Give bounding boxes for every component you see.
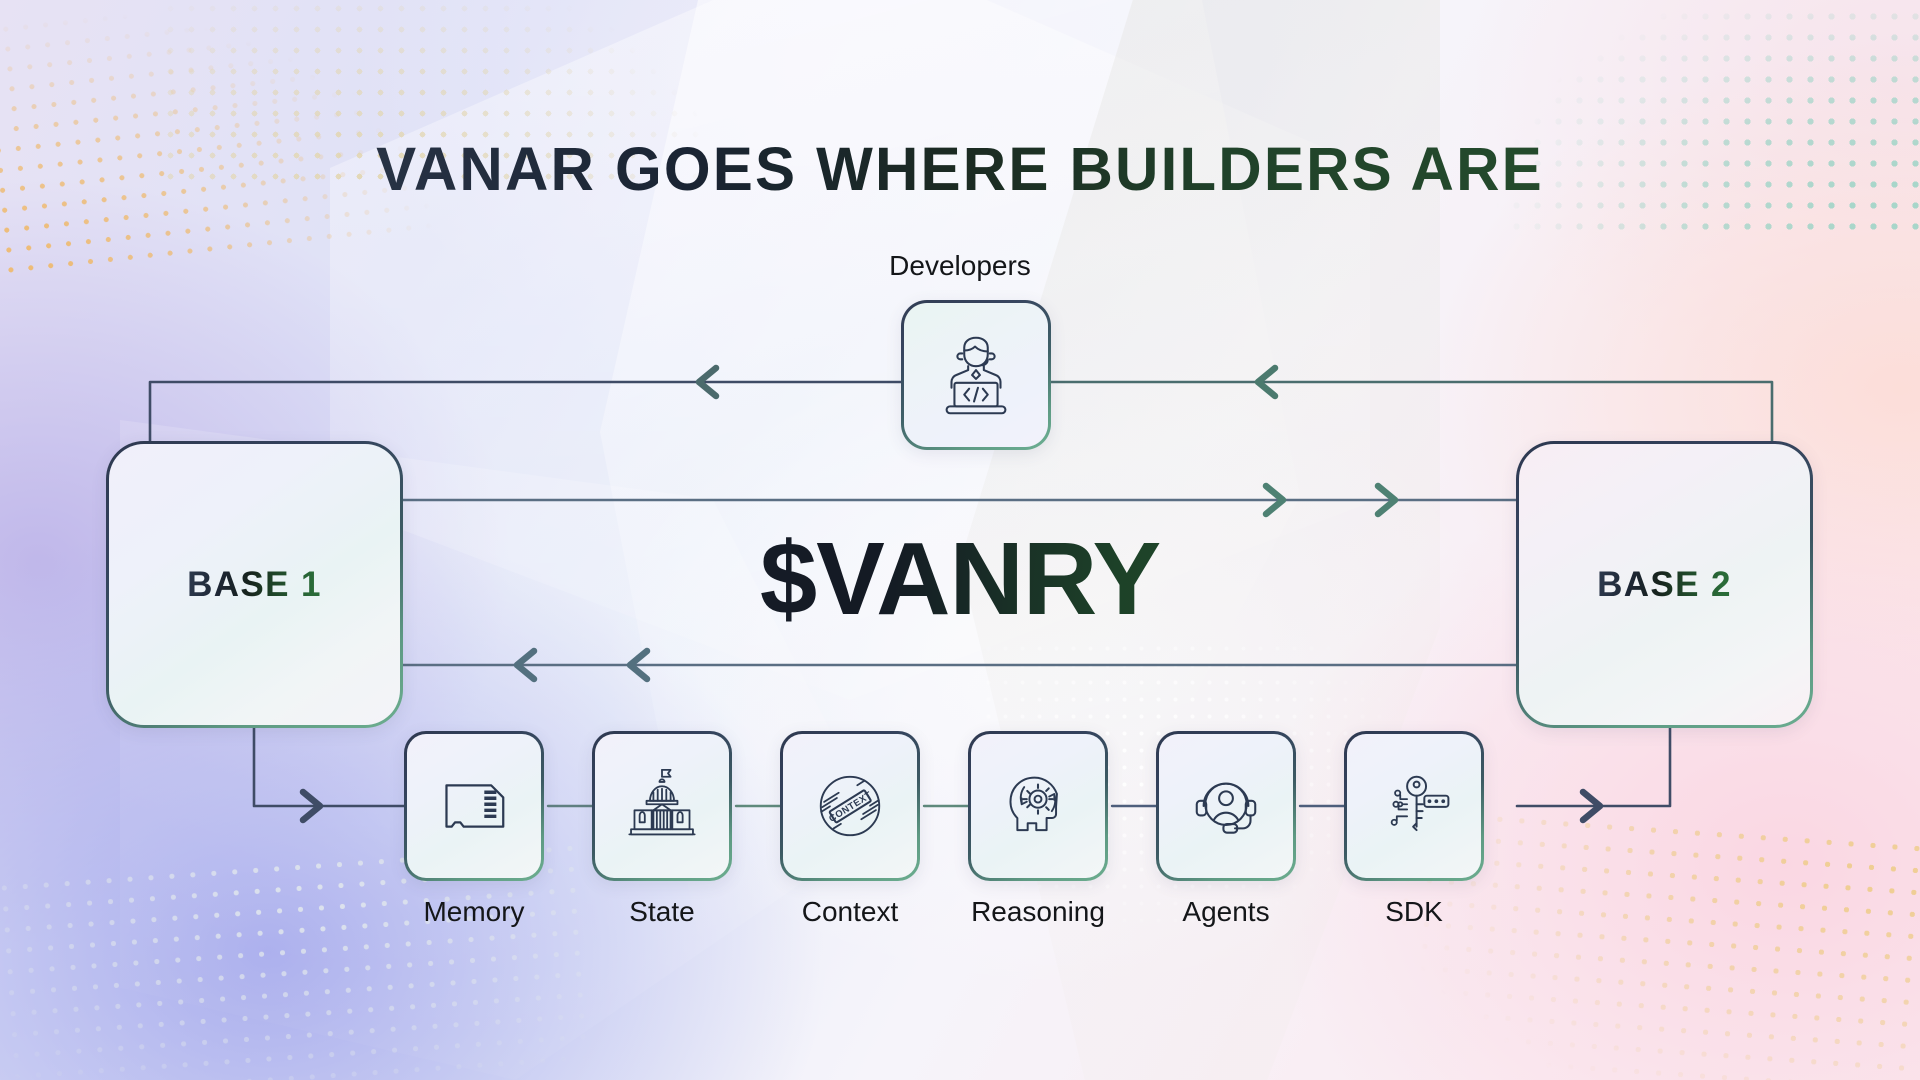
slide-canvas: VANAR GOES WHERE BUILDERS ARE bbox=[0, 0, 1920, 1080]
feature-card-sdk[interactable] bbox=[1344, 731, 1484, 881]
feature-inner-memory bbox=[407, 734, 541, 878]
feature-inner-context: CONTEXT bbox=[783, 734, 917, 878]
feature-label-reasoning: Reasoning bbox=[928, 896, 1148, 928]
base-1-label: BASE 1 bbox=[187, 565, 322, 605]
feature-label-context: Context bbox=[740, 896, 960, 928]
head-gear-icon bbox=[995, 763, 1081, 849]
feature-label-agents: Agents bbox=[1116, 896, 1336, 928]
connector-features-to-base2 bbox=[1517, 728, 1670, 806]
key-circuit-icon bbox=[1371, 763, 1457, 849]
feature-card-agents[interactable] bbox=[1156, 731, 1296, 881]
developer-laptop-icon bbox=[927, 326, 1025, 424]
feature-inner-reasoning bbox=[971, 734, 1105, 878]
base-2-inner: BASE 2 bbox=[1519, 444, 1810, 725]
feature-label-state: State bbox=[552, 896, 772, 928]
capitol-building-icon bbox=[619, 763, 705, 849]
developers-label: Developers bbox=[0, 250, 1920, 282]
feature-inner-state bbox=[595, 734, 729, 878]
connector-base1-to-features bbox=[254, 728, 404, 806]
base-1-inner: BASE 1 bbox=[109, 444, 400, 725]
feature-label-sdk: SDK bbox=[1304, 896, 1524, 928]
feature-label-memory: Memory bbox=[364, 896, 584, 928]
feature-inner-agents bbox=[1159, 734, 1293, 878]
feature-card-context[interactable]: CONTEXT bbox=[780, 731, 920, 881]
connector-base2-top bbox=[1051, 382, 1772, 441]
developers-inner bbox=[904, 303, 1048, 447]
context-stamp-icon: CONTEXT bbox=[807, 763, 893, 849]
sd-card-icon bbox=[431, 763, 517, 849]
base-2-label: BASE 2 bbox=[1597, 565, 1732, 605]
feature-inner-sdk bbox=[1347, 734, 1481, 878]
developers-node[interactable] bbox=[901, 300, 1051, 450]
agent-headset-icon bbox=[1183, 763, 1269, 849]
connector-base1-top bbox=[150, 382, 901, 441]
feature-card-reasoning[interactable] bbox=[968, 731, 1108, 881]
feature-card-state[interactable] bbox=[592, 731, 732, 881]
base-2-node[interactable]: BASE 2 bbox=[1516, 441, 1813, 728]
base-1-node[interactable]: BASE 1 bbox=[106, 441, 403, 728]
feature-card-memory[interactable] bbox=[404, 731, 544, 881]
